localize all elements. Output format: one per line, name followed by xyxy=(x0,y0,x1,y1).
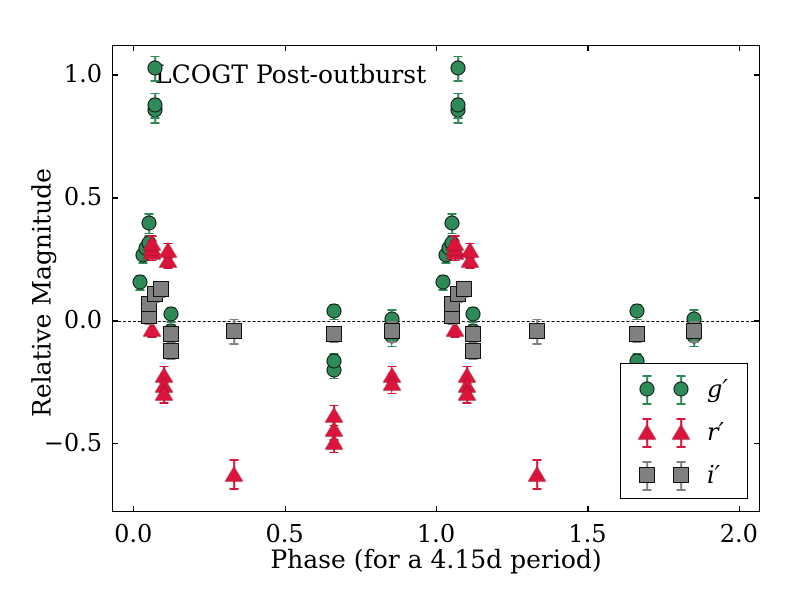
legend-error-bar-cap xyxy=(643,375,652,377)
y-axis-tick xyxy=(112,320,118,321)
error-bar-cap xyxy=(532,343,541,345)
triangle-marker xyxy=(325,434,343,449)
x-axis-tick-top xyxy=(436,45,437,51)
error-bar-cap xyxy=(454,93,463,95)
legend-error-bar-cap xyxy=(677,403,686,405)
legend-error-bar-cap xyxy=(677,375,686,377)
triangle-marker xyxy=(159,243,177,258)
square-marker xyxy=(465,326,481,342)
data-point xyxy=(461,241,479,259)
square-marker xyxy=(226,323,242,339)
error-bar-cap xyxy=(451,336,460,338)
legend-error-bar-cap xyxy=(643,461,652,463)
error-bar-cap xyxy=(230,343,239,345)
error-bar-cap xyxy=(163,267,172,269)
error-bar-cap xyxy=(451,250,460,252)
error-bar-cap xyxy=(454,56,463,58)
error-bar-cap xyxy=(454,80,463,82)
error-bar-cap xyxy=(163,257,172,259)
legend-error-bar-cap xyxy=(643,418,652,420)
legend-error-bar-cap xyxy=(677,461,686,463)
triangle-marker xyxy=(638,425,656,440)
legend-error-bar-cap xyxy=(643,403,652,405)
zero-reference-line xyxy=(113,321,759,322)
x-tick-label: 2.0 xyxy=(720,520,758,548)
data-point xyxy=(146,96,164,114)
error-bar-cap xyxy=(151,117,160,119)
error-bar-cap xyxy=(451,260,460,262)
error-bar-cap xyxy=(387,393,396,395)
legend-error-bar-cap xyxy=(643,489,652,491)
circle-marker xyxy=(327,304,342,319)
legend-item-r[interactable]: r′ xyxy=(621,411,747,453)
legend-sample-point xyxy=(638,423,656,441)
data-point xyxy=(464,342,482,360)
data-point xyxy=(140,214,158,232)
circle-marker xyxy=(451,61,466,76)
error-bar-cap xyxy=(148,250,157,252)
error-bar-cap xyxy=(230,319,239,321)
square-marker xyxy=(639,467,655,483)
error-bar-cap xyxy=(690,346,699,348)
circle-marker xyxy=(445,215,460,230)
error-bar-cap xyxy=(439,289,448,291)
y-axis-tick xyxy=(112,443,118,444)
error-bar-cap xyxy=(532,319,541,321)
error-bar-cap xyxy=(463,402,472,404)
square-marker xyxy=(163,326,179,342)
error-bar-cap xyxy=(330,319,339,321)
triangle-marker xyxy=(225,466,243,481)
data-point xyxy=(225,465,243,483)
x-axis-tick xyxy=(285,506,286,512)
error-bar-cap xyxy=(148,336,157,338)
legend-sample-point xyxy=(672,380,690,398)
error-bar-cap xyxy=(387,341,396,343)
error-bar-cap xyxy=(442,262,451,264)
circle-marker xyxy=(148,97,163,112)
figure: Relative Magnitude Phase (for a 4.15d pe… xyxy=(0,0,800,600)
error-bar-cap xyxy=(160,402,169,404)
square-marker xyxy=(163,343,179,359)
data-point xyxy=(162,305,180,323)
circle-marker xyxy=(451,97,466,112)
data-point xyxy=(152,280,170,298)
legend-sample-point xyxy=(672,466,690,484)
legend-error-bar-cap xyxy=(677,489,686,491)
legend-error-bar-cap xyxy=(643,446,652,448)
triangle-marker xyxy=(461,243,479,258)
square-marker xyxy=(456,281,472,297)
legend-error-bar-cap xyxy=(677,446,686,448)
triangle-marker xyxy=(458,385,476,400)
error-bar-cap xyxy=(230,459,239,461)
x-axis-tick xyxy=(739,506,740,512)
square-marker xyxy=(673,467,689,483)
error-bar-cap xyxy=(151,56,160,58)
x-axis-tick xyxy=(436,506,437,512)
x-tick-label: 0.5 xyxy=(266,520,304,548)
y-axis-tick-right xyxy=(754,320,760,321)
triangle-marker xyxy=(383,375,401,390)
data-point xyxy=(458,384,476,402)
triangle-marker xyxy=(672,425,690,440)
y-axis-tick xyxy=(112,197,118,198)
error-bar-cap xyxy=(387,346,396,348)
data-point xyxy=(628,302,646,320)
legend: g′r′i′ xyxy=(620,363,748,499)
data-point xyxy=(325,352,343,370)
y-axis-label: Relative Magnitude xyxy=(28,133,57,453)
legend-sample-point xyxy=(638,466,656,484)
circle-marker xyxy=(629,304,644,319)
square-marker xyxy=(326,326,342,342)
data-point xyxy=(155,384,173,402)
legend-error-bar-cap xyxy=(677,418,686,420)
error-bar-cap xyxy=(690,341,699,343)
x-axis-label: Phase (for a 4.15d period) xyxy=(112,545,760,574)
y-axis-tick-right xyxy=(754,443,760,444)
data-point xyxy=(162,342,180,360)
legend-item-g[interactable]: g′ xyxy=(621,368,747,410)
error-bar-cap xyxy=(454,117,463,119)
data-point xyxy=(628,325,646,343)
error-bar-cap xyxy=(230,488,239,490)
legend-marker-group xyxy=(621,411,707,453)
data-point xyxy=(383,322,401,340)
data-point xyxy=(325,325,343,343)
data-point xyxy=(685,322,703,340)
error-bar-cap xyxy=(466,257,475,259)
y-axis-tick-right xyxy=(754,197,760,198)
x-axis-tick-top xyxy=(285,45,286,51)
y-axis-tick-right xyxy=(754,74,760,75)
error-bar-cap xyxy=(136,289,145,291)
legend-label: r′ xyxy=(707,418,724,446)
square-marker xyxy=(529,323,545,339)
data-point xyxy=(443,214,461,232)
error-bar-cap xyxy=(451,255,460,257)
square-marker xyxy=(629,326,645,342)
data-point xyxy=(464,325,482,343)
square-marker xyxy=(465,343,481,359)
error-bar-cap xyxy=(151,122,160,124)
legend-item-i[interactable]: i′ xyxy=(621,454,747,496)
data-point xyxy=(159,241,177,259)
legend-marker-group xyxy=(621,368,707,410)
data-point xyxy=(325,433,343,451)
circle-marker xyxy=(163,306,178,321)
y-tick-label: 1.0 xyxy=(30,60,102,88)
x-tick-label: 1.0 xyxy=(417,520,455,548)
x-axis-tick xyxy=(133,506,134,512)
triangle-marker xyxy=(528,466,546,481)
data-point xyxy=(146,59,164,77)
error-bar-cap xyxy=(139,262,148,264)
y-tick-label: 0.5 xyxy=(30,183,102,211)
legend-label: i′ xyxy=(707,461,720,489)
legend-marker-group xyxy=(621,454,707,496)
legend-label: g′ xyxy=(707,375,728,403)
error-bar-cap xyxy=(330,368,339,370)
error-bar-cap xyxy=(148,255,157,257)
legend-sample-point xyxy=(638,380,656,398)
circle-marker xyxy=(327,353,342,368)
data-point xyxy=(528,465,546,483)
legend-sample-point xyxy=(672,423,690,441)
error-bar-cap xyxy=(151,93,160,95)
circle-marker xyxy=(148,61,163,76)
y-tick-label: −0.5 xyxy=(30,429,102,457)
x-tick-label: 0.0 xyxy=(114,520,152,548)
square-marker xyxy=(153,281,169,297)
data-point xyxy=(528,322,546,340)
data-point xyxy=(449,96,467,114)
error-bar-cap xyxy=(632,319,641,321)
data-point xyxy=(455,280,473,298)
data-point xyxy=(464,305,482,323)
data-point xyxy=(325,302,343,320)
square-marker xyxy=(686,323,702,339)
error-bar-cap xyxy=(330,452,339,454)
circle-marker xyxy=(640,382,655,397)
triangle-marker xyxy=(155,385,173,400)
x-axis-tick xyxy=(587,506,588,512)
x-axis-tick-top xyxy=(133,45,134,51)
error-bar-cap xyxy=(330,378,339,380)
error-bar-cap xyxy=(532,488,541,490)
circle-marker xyxy=(466,306,481,321)
error-bar-cap xyxy=(148,260,157,262)
circle-marker xyxy=(142,215,157,230)
x-axis-tick-top xyxy=(587,45,588,51)
y-tick-label: 0.0 xyxy=(30,306,102,334)
data-point xyxy=(449,59,467,77)
square-marker xyxy=(384,323,400,339)
data-point xyxy=(225,322,243,340)
x-axis-tick-top xyxy=(739,45,740,51)
circle-marker xyxy=(674,382,689,397)
y-axis-tick xyxy=(112,74,118,75)
error-bar-cap xyxy=(532,459,541,461)
error-bar-cap xyxy=(466,267,475,269)
error-bar-cap xyxy=(151,80,160,82)
data-point xyxy=(162,325,180,343)
x-tick-label: 1.5 xyxy=(568,520,606,548)
error-bar-cap xyxy=(454,122,463,124)
data-point xyxy=(383,374,401,392)
